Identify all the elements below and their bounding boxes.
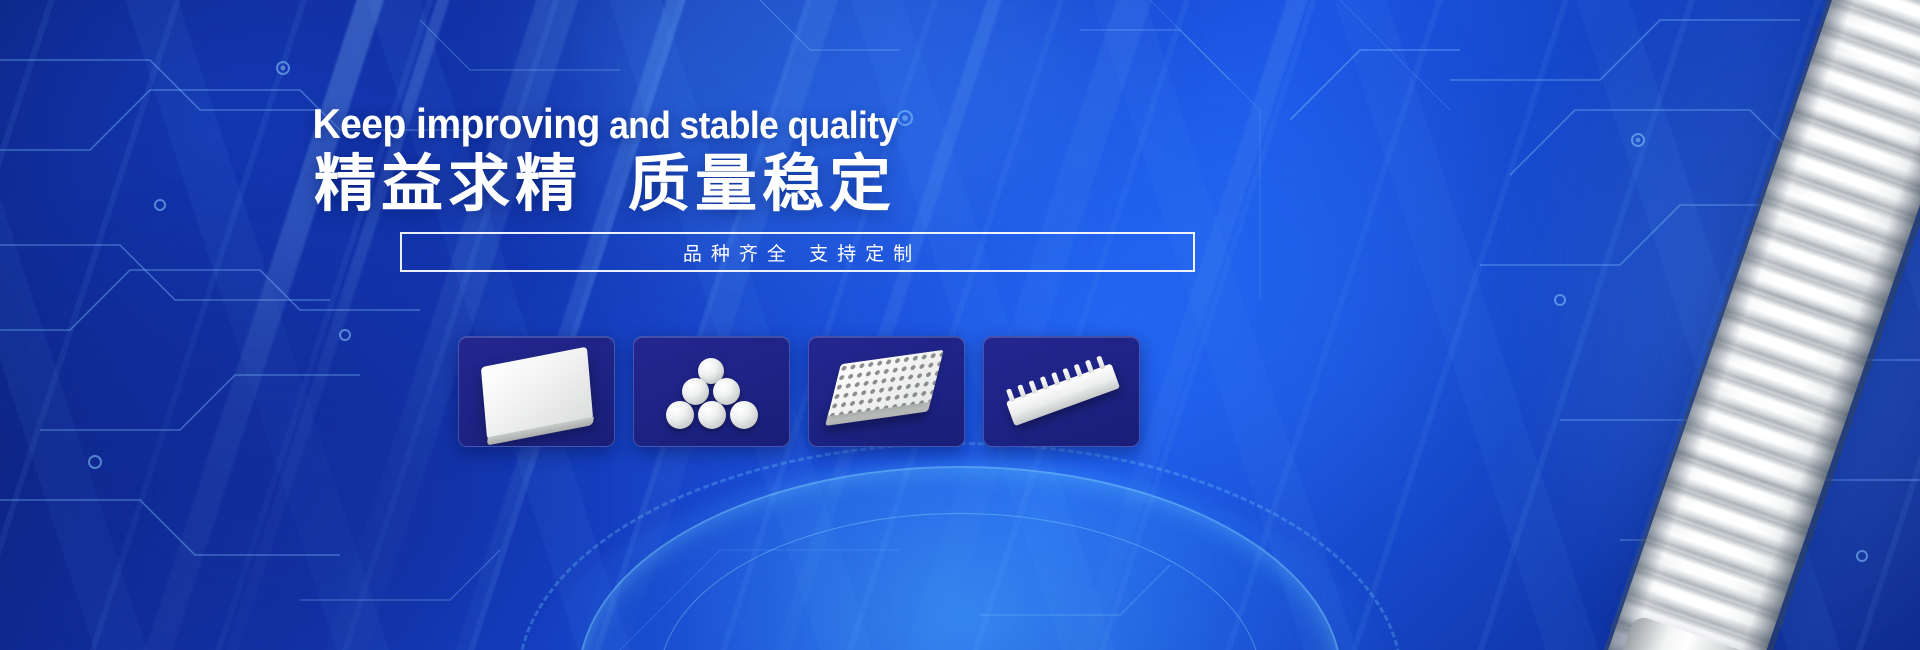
chinese-headline-right: 质量稳定 xyxy=(628,150,896,219)
ceramic-comb-icon xyxy=(1001,352,1121,432)
english-headline-tail: and stable quality xyxy=(600,105,898,147)
chinese-headline-left: 精益求精 xyxy=(314,150,582,219)
english-headline-lead: Keep improving xyxy=(312,100,599,147)
product-card-ceramic-plate[interactable] xyxy=(458,336,615,447)
ceramic-plate-icon xyxy=(481,347,593,440)
subtitle-text: 品种齐全 支持定制 xyxy=(400,232,1195,272)
product-card-perforated-block[interactable] xyxy=(808,336,965,447)
chinese-headline: 精益求精质量稳定 xyxy=(0,148,1210,222)
product-card-ceramic-balls[interactable] xyxy=(633,336,790,447)
perforated-block-icon xyxy=(830,351,942,433)
product-card-row xyxy=(458,336,1140,447)
english-headline: Keep improving and stable quality xyxy=(42,101,1167,149)
ceramic-balls-icon xyxy=(658,357,766,431)
product-card-comb-bar[interactable] xyxy=(983,336,1140,447)
promo-banner: Keep improving and stable quality 精益求精质量… xyxy=(0,0,1920,650)
